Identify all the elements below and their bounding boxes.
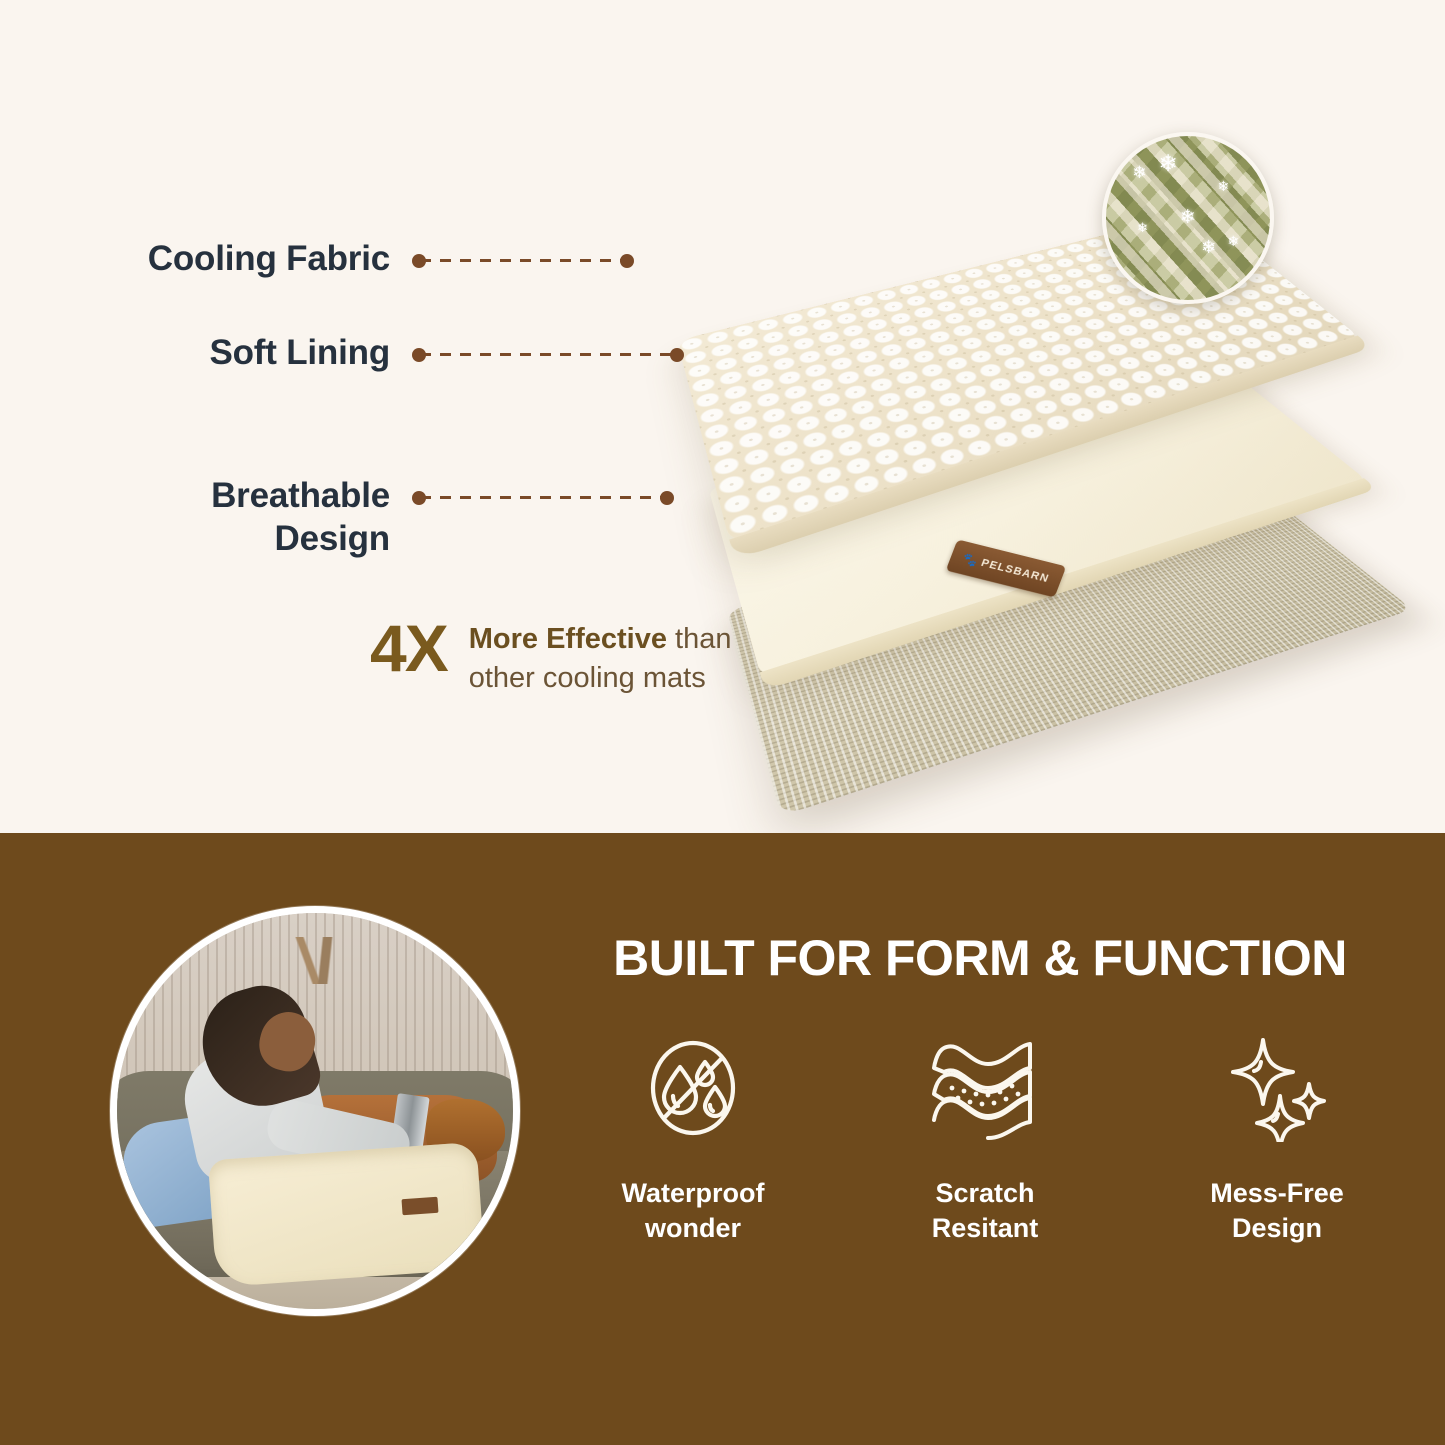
- feature-label-waterproof: Waterproof wonder: [622, 1176, 765, 1245]
- connector-dashes: [420, 353, 676, 356]
- connector-dashes: [420, 259, 626, 262]
- photo-wall-branch-decor: [236, 937, 418, 985]
- wavy-fabric-layers-icon: [925, 1028, 1045, 1148]
- photo-cooling-mat: [208, 1141, 485, 1286]
- feature-scratch-resistant: Scratch Resitant: [852, 1028, 1118, 1245]
- snowflake-icon: ❄: [1137, 221, 1148, 234]
- no-water-droplets-icon: [633, 1028, 753, 1148]
- claim-emphasis: More Effective: [469, 623, 667, 655]
- connector-dot-end: [660, 491, 674, 505]
- claim-rest: than: [667, 623, 732, 655]
- claim-line2: other cooling mats: [469, 662, 706, 694]
- exploded-layers-section: 🐾 PELSBARN ❄ ❄ ❄ ❄ ❄ ❄ ❄ Cooling Fabric …: [0, 0, 1445, 833]
- connector-dashes: [420, 496, 666, 499]
- brand-name-text: PELSBARN: [979, 557, 1051, 585]
- sparkles-icon: [1217, 1028, 1337, 1148]
- claim-text: More Effective than other cooling mats: [469, 612, 732, 697]
- feature-waterproof: Waterproof wonder: [560, 1028, 826, 1245]
- snowflake-icon: ❄: [1218, 179, 1230, 193]
- snowflake-icon: ❄: [1180, 208, 1196, 227]
- snowflake-icon: ❄: [1227, 234, 1239, 248]
- effectiveness-claim: 4X More Effective than other cooling mat…: [370, 612, 800, 697]
- connector-dot-end: [670, 348, 684, 362]
- callout-label-breathable-design: Breathable Design: [60, 475, 390, 560]
- feature-row: Waterproof wonder: [560, 1028, 1410, 1328]
- section-headline: BUILT FOR FORM & FUNCTION: [560, 933, 1400, 983]
- cooling-fabric-macro-inset: ❄ ❄ ❄ ❄ ❄ ❄ ❄: [1102, 132, 1274, 304]
- callout-label-cooling-fabric: Cooling Fabric: [60, 238, 390, 281]
- snowflake-icon: ❄: [1158, 152, 1177, 175]
- product-infographic: 🐾 PELSBARN ❄ ❄ ❄ ❄ ❄ ❄ ❄ Cooling Fabric …: [0, 0, 1445, 1445]
- form-and-function-section: BUILT FOR FORM & FUNCTION Waterproof won…: [0, 833, 1445, 1445]
- paw-icon: 🐾: [961, 552, 980, 567]
- claim-multiplier: 4X: [370, 612, 447, 681]
- connector-line-soft-lining: [412, 346, 684, 364]
- photo-mat-brand-tag: [402, 1197, 439, 1215]
- connector-line-cooling-fabric: [412, 252, 634, 270]
- feature-label-scratch-resistant: Scratch Resitant: [932, 1176, 1039, 1245]
- feature-mess-free: Mess-Free Design: [1144, 1028, 1410, 1245]
- lifestyle-photo: [110, 906, 520, 1316]
- snowflake-icon: ❄: [1132, 164, 1146, 181]
- snowflake-icon: ❄: [1201, 238, 1216, 256]
- feature-label-mess-free: Mess-Free Design: [1210, 1176, 1344, 1245]
- connector-line-breathable-design: [412, 489, 674, 507]
- connector-dot-end: [620, 254, 634, 268]
- callout-label-soft-lining: Soft Lining: [60, 332, 390, 375]
